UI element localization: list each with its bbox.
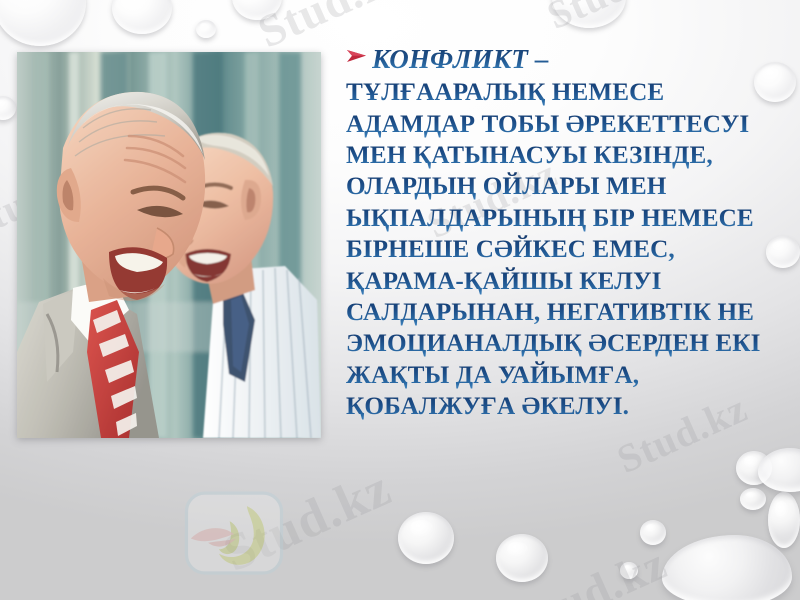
definition-line: ТҰЛҒААРАЛЫҚ НЕМЕСЕ (346, 77, 786, 108)
arrow-bullet-icon (346, 47, 368, 70)
droplet-top-center-2 (196, 20, 216, 38)
droplet-top-left-large (0, 0, 86, 46)
watermark-text: Stud.kz (215, 458, 400, 584)
droplet-bottom-center (496, 534, 548, 582)
droplet-bottom-tiny-b (640, 520, 666, 545)
watermark-text: Stud.kz (510, 536, 675, 600)
definition-line: БІРНЕШЕ СӘЙКЕС ЕМЕС, (346, 234, 786, 265)
water-blob-bottom-right (662, 535, 792, 600)
definition-line: МЕН ҚАТЫНАСУЫ КЕЗІНДЕ, (346, 140, 786, 171)
definition-line: ОЛАРДЫҢ ОЙЛАРЫ МЕН (346, 171, 786, 202)
definition-line: ЖАҚТЫ ДА УАЙЫМҒА, (346, 360, 786, 391)
conflict-photo (17, 52, 321, 438)
droplet-top-right-a (552, 0, 626, 28)
slide-text-block: КОНФЛИКТ – ТҰЛҒААРАЛЫҚ НЕМЕСЕАДАМДАР ТОБ… (346, 44, 786, 423)
definition-line: ҚАРАМА-ҚАЙШЫ КЕЛУІ (346, 266, 786, 297)
water-blob-right-mid (758, 448, 800, 492)
droplet-right-upper (740, 488, 766, 510)
conflict-photo-image (17, 52, 321, 438)
droplet-edge-right (768, 492, 800, 548)
definition-body: ТҰЛҒААРАЛЫҚ НЕМЕСЕАДАМДАР ТОБЫ ӘРЕКЕТТЕС… (346, 77, 786, 422)
droplet-bottom-tiny-a (620, 562, 638, 579)
lead-line: КОНФЛИКТ – (346, 44, 786, 74)
droplet-top-center (112, 0, 172, 34)
watermark-text: Stud.kz (540, 0, 684, 39)
watermark-logo-icon (180, 478, 288, 586)
definition-line: ЫҚПАЛДАРЫНЫҢ БІР НЕМЕСЕ (346, 203, 786, 234)
presentation-slide: Stud.kzStud.kzStud.kzStud.kzStud.kzStud.… (0, 0, 800, 600)
definition-line: ЭМОЦИАНАЛДЫҚ ӘСЕРДЕН ЕКІ (346, 328, 786, 359)
droplet-top-left-small (0, 96, 16, 120)
droplet-bottom-left (398, 512, 454, 564)
definition-line: ҚОБАЛЖУҒА ӘКЕЛУІ. (346, 391, 786, 422)
droplet-bottom-right (736, 451, 772, 485)
definition-line: АДАМДАР ТОБЫ ӘРЕКЕТТЕСУІ (346, 109, 786, 140)
droplet-top-mid (232, 0, 282, 20)
definition-line: САЛДАРЫНАН, НЕГАТИВТІК НЕ (346, 297, 786, 328)
lead-term: КОНФЛИКТ – (372, 44, 549, 74)
